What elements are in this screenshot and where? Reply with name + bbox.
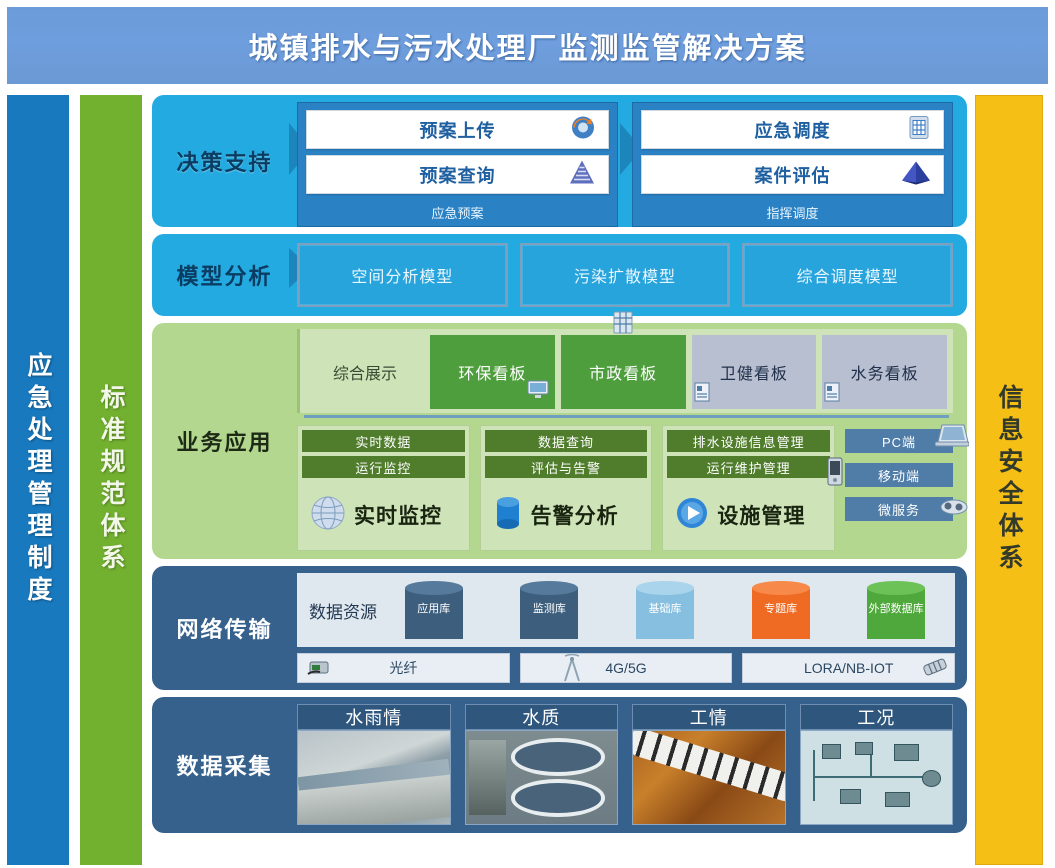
decision-item-case-assessment[interactable]: 案件评估: [641, 155, 944, 194]
layer-label-decision-support: 决策支持: [152, 95, 297, 227]
board-label: 环保看板: [458, 360, 526, 384]
decision-item-label: 预案查询: [420, 162, 496, 188]
decision-item-plan-query[interactable]: 预案查询: [306, 155, 609, 194]
database-monitoring[interactable]: 监测库: [520, 581, 578, 639]
grid-calculator-icon: [907, 114, 931, 145]
mobile-phone-icon: [825, 457, 845, 490]
board-label: 水务看板: [851, 360, 919, 384]
recycle-circle-icon: [570, 114, 596, 145]
database-cylinder-icon: [491, 494, 525, 537]
data-resource-label: 数据资源: [309, 598, 377, 623]
striped-pyramid-icon: [568, 159, 596, 190]
photo-detail: [894, 744, 918, 761]
layer-network-transmission: 网络传输 数据资源 应用库: [152, 566, 967, 690]
river-embankment-photo: [297, 730, 451, 825]
business-sub-item[interactable]: 数据查询: [485, 430, 648, 452]
decision-item-plan-upload[interactable]: 预案上传: [306, 110, 609, 149]
photo-detail: [511, 779, 605, 816]
solution-architecture-diagram: 城镇排水与污水处理厂监测监管解决方案 应急处理管理制度 标准规范体系 信息安全体…: [0, 0, 1055, 868]
devices-icon: [939, 493, 969, 520]
client-list: PC端 移动端: [845, 413, 953, 551]
board-water-affairs[interactable]: 水务看板: [822, 335, 947, 409]
photo-detail: [922, 770, 942, 787]
database-label: 外部数据库: [867, 604, 925, 616]
channel-label: 光纤: [389, 658, 417, 678]
cylinder-top: [636, 581, 694, 595]
layer-decision-support: 决策支持 预案上传: [152, 95, 967, 227]
business-main-label: 实时监控: [354, 500, 442, 530]
board-label: 卫健看板: [720, 360, 788, 384]
data-card-rainfall[interactable]: 水雨情: [297, 704, 451, 825]
model-item-pollution-diffusion[interactable]: 污染扩散模型: [520, 243, 731, 307]
photo-detail: [885, 792, 909, 807]
channel-label: LORA/NB-IOT: [804, 660, 893, 676]
antenna-tower-icon: [561, 654, 583, 685]
decision-group-caption: 指挥调度: [641, 200, 944, 224]
business-sub-item[interactable]: 运行监控: [302, 456, 465, 478]
database-basic[interactable]: 基础库: [636, 581, 694, 639]
client-label: PC端: [882, 432, 916, 451]
board-label: 市政看板: [589, 360, 657, 384]
photo-detail: [469, 740, 507, 814]
business-sub-item[interactable]: 运行维护管理: [667, 456, 830, 478]
business-sub-item[interactable]: 实时数据: [302, 430, 465, 452]
layer-data-acquisition: 数据采集 水雨情 水质: [152, 697, 967, 833]
layer-stack: 决策支持 预案上传: [152, 95, 967, 867]
database-label: 应用库: [405, 604, 463, 616]
database-application[interactable]: 应用库: [405, 581, 463, 639]
globe-icon: [308, 493, 348, 538]
channel-label: 4G/5G: [605, 660, 646, 676]
channel-lora-nbiot[interactable]: LORA/NB-IOT: [742, 653, 955, 683]
data-resource-row: 数据资源 应用库 监测库: [297, 573, 955, 647]
data-card-label: 水质: [465, 704, 619, 730]
database-label: 专题库: [752, 604, 810, 616]
board-health[interactable]: 卫健看板: [692, 335, 817, 409]
pillar-information-security: 信息安全体系: [975, 95, 1043, 865]
business-main-facility-management[interactable]: 设施管理: [667, 482, 830, 550]
data-card-working-condition[interactable]: 工况: [800, 704, 954, 825]
board-municipal[interactable]: 市政看板: [561, 335, 686, 409]
photo-detail: [840, 789, 861, 804]
pillar-standards-system: 标准规范体系: [80, 95, 142, 865]
business-main-alarm-analysis[interactable]: 告警分析: [485, 482, 648, 550]
photo-detail: [632, 730, 786, 805]
client-label: 移动端: [878, 466, 920, 485]
database-label: 基础库: [636, 604, 694, 616]
pipe-trench-photo: [632, 730, 786, 825]
data-card-label: 水雨情: [297, 704, 451, 730]
layer-label-model-analysis: 模型分析: [152, 234, 297, 316]
data-card-label: 工况: [800, 704, 954, 730]
decision-group-command-dispatch: 应急调度: [632, 102, 953, 227]
pillar-emergency-management: 应急处理管理制度: [7, 95, 69, 865]
cylinder-top: [520, 581, 578, 595]
channel-fiber[interactable]: 光纤: [297, 653, 510, 683]
client-mobile[interactable]: 移动端: [845, 463, 953, 487]
business-column-facility: 排水设施信息管理 运行维护管理: [662, 425, 835, 551]
decision-item-label: 应急调度: [755, 117, 831, 143]
database-external[interactable]: 外部数据库: [867, 581, 925, 639]
photo-detail: [511, 738, 605, 775]
decision-group-caption: 应急预案: [306, 200, 609, 224]
layer-label-business-application: 业务应用: [152, 323, 297, 559]
photo-detail: [813, 776, 937, 778]
client-label: 微服务: [878, 500, 920, 519]
business-column-query: 数据查询 评估与告警: [480, 425, 653, 551]
board-environment[interactable]: 环保看板: [430, 335, 555, 409]
photo-detail: [822, 744, 842, 759]
model-item-spatial-analysis[interactable]: 空间分析模型: [297, 243, 508, 307]
layer-label-data-acquisition: 数据采集: [152, 697, 297, 833]
building-window-icon: [612, 311, 634, 340]
business-sub-item[interactable]: 评估与告警: [485, 456, 648, 478]
diagram-header: 城镇排水与污水处理厂监测监管解决方案: [7, 7, 1048, 87]
monitor-icon: [527, 380, 549, 405]
decision-group-emergency-plan: 预案上传 预案查询: [297, 102, 618, 227]
solid-pyramid-icon: [901, 159, 931, 190]
chart-report-icon: [824, 382, 842, 407]
business-main-label: 告警分析: [531, 500, 619, 530]
sedimentation-tanks-photo: [465, 730, 619, 825]
sensor-module-icon: [920, 655, 950, 684]
play-circle-icon: [673, 494, 711, 537]
fiber-cable-icon: [306, 656, 334, 683]
chart-report-icon: [694, 382, 712, 407]
data-card-engineering[interactable]: 工情: [632, 704, 786, 825]
page-title: 城镇排水与污水处理厂监测监管解决方案: [248, 25, 806, 67]
data-card-water-quality[interactable]: 水质: [465, 704, 619, 825]
decision-item-label: 案件评估: [755, 162, 831, 188]
layer-business-application: 业务应用 综合展示 环保看板: [152, 323, 967, 559]
client-pc[interactable]: PC端: [845, 429, 953, 453]
client-microservice[interactable]: 微服务: [845, 497, 953, 521]
layer-model-analysis: 模型分析 空间分析模型 污染扩散模型 综合调度模型: [152, 234, 967, 316]
business-main-realtime-monitoring[interactable]: 实时监控: [302, 482, 465, 550]
board-row: 综合展示 环保看板: [297, 329, 953, 413]
photo-detail: [813, 750, 815, 801]
data-card-label: 工情: [632, 704, 786, 730]
business-main-label: 设施管理: [717, 500, 805, 530]
model-item-integrated-dispatch[interactable]: 综合调度模型: [742, 243, 953, 307]
scada-process-diagram-photo: [800, 730, 954, 825]
photo-detail: [855, 742, 873, 755]
cylinder-top: [867, 581, 925, 595]
cylinder-top: [752, 581, 810, 595]
layer-label-network-transmission: 网络传输: [152, 566, 297, 690]
decision-item-emergency-dispatch[interactable]: 应急调度: [641, 110, 944, 149]
channel-4g5g[interactable]: 4G/5G: [520, 653, 733, 683]
laptop-icon: [935, 423, 969, 452]
decision-item-label: 预案上传: [420, 117, 496, 143]
database-thematic[interactable]: 专题库: [752, 581, 810, 639]
boards-label: 综合展示: [306, 335, 424, 409]
business-sub-item[interactable]: 排水设施信息管理: [667, 430, 830, 452]
cylinder-top: [405, 581, 463, 595]
database-label: 监测库: [520, 604, 578, 616]
business-column-realtime: 实时数据 运行监控: [297, 425, 470, 551]
